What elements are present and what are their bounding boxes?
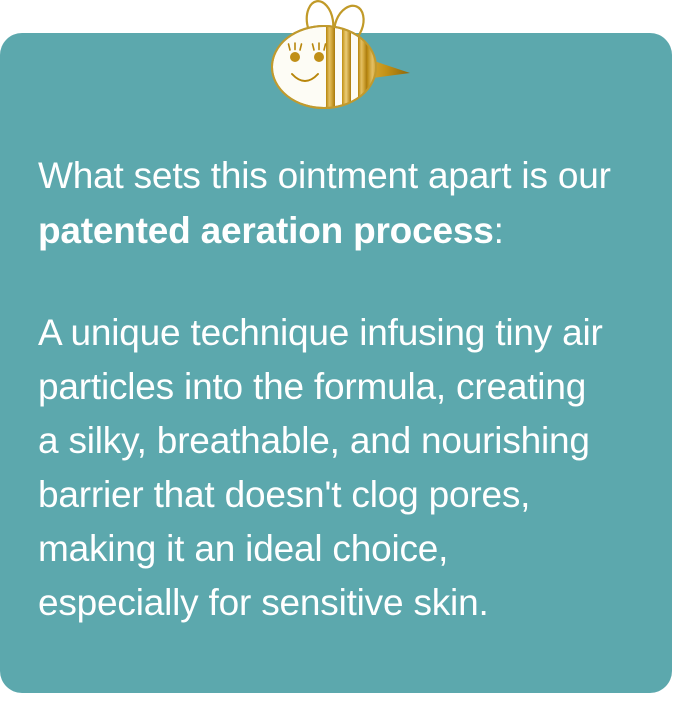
headline-trailing: :: [494, 210, 504, 251]
body-line: making it an ideal choice,: [38, 522, 650, 576]
body-line: especially for sensitive skin.: [38, 576, 650, 630]
body-line: a silky, breathable, and nourishing: [38, 414, 650, 468]
body-paragraph: A unique technique infusing tiny air par…: [38, 306, 650, 630]
headline-lead: What sets this ointment apart is our: [38, 155, 611, 196]
promo-text-block: What sets this ointment apart is our pat…: [38, 148, 650, 630]
headline-emphasis: patented aeration process: [38, 210, 494, 251]
promo-graphic: What sets this ointment apart is our pat…: [0, 0, 679, 703]
body-line: A unique technique infusing tiny air: [38, 306, 650, 360]
body-line: particles into the formula, creating: [38, 360, 650, 414]
headline-line-1: What sets this ointment apart is our: [38, 148, 650, 203]
body-line: barrier that doesn't clog pores,: [38, 468, 650, 522]
headline-line-2: patented aeration process:: [38, 203, 650, 258]
